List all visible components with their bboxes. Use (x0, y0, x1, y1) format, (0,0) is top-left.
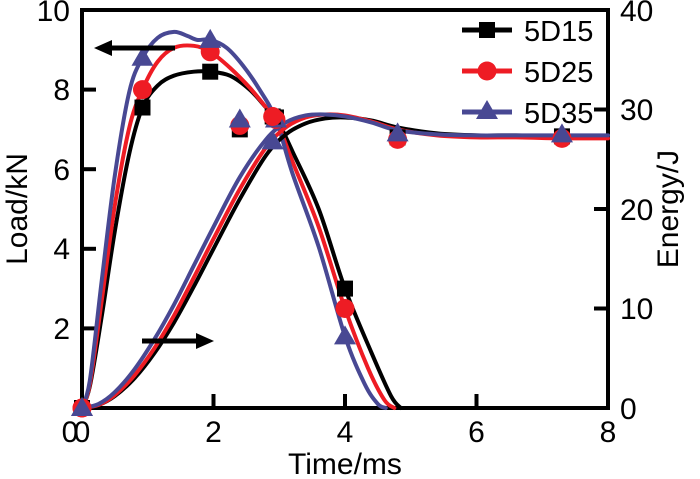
legend-item-5D25[interactable]: 5D25 (462, 57, 593, 89)
series-line-5D15-Energy (82, 117, 608, 408)
legend-item-5D15[interactable]: 5D15 (462, 16, 593, 48)
circle-marker-icon (478, 62, 497, 81)
x-tick-label: 4 (337, 416, 354, 449)
y-right-tick-label: 0 (620, 393, 637, 426)
series-marker-5D15-Load (337, 281, 353, 297)
x-tick-label: 2 (205, 416, 222, 449)
series-marker-5D35-Energy (229, 108, 251, 127)
x-axis-title: Time/ms (288, 448, 402, 479)
y-right-axis-title: Energy/J (652, 150, 685, 268)
legend: 5D15 5D25 5D35 (462, 16, 593, 130)
x-tick-label: 8 (600, 416, 617, 449)
series-line-5D35-Load (82, 32, 386, 408)
x-tick-label: 6 (468, 416, 485, 449)
y-left-tick-label: 6 (53, 154, 70, 187)
y-left-tick-label: 10 (37, 0, 70, 28)
series-marker-5D25-Load (336, 299, 355, 318)
series-line-5D25-Energy (82, 114, 608, 408)
y-right-ticks (594, 10, 608, 408)
legend-item-label: 5D25 (524, 57, 593, 89)
figure-container: 10 8 6 4 2 0 40 30 20 10 0 0 2 4 6 8 Tim… (0, 0, 700, 479)
y-left-tick-labels: 10 8 6 4 2 0 (37, 0, 79, 449)
series-marker-5D15-Load (134, 100, 150, 116)
y-right-tick-label: 20 (620, 194, 653, 227)
legend-item-label: 5D15 (524, 16, 593, 48)
y-right-tick-label: 10 (620, 293, 653, 326)
series-marker-5D25-Load (133, 80, 152, 99)
series-marker-5D15-Load (202, 64, 218, 80)
series-marker-5D25-Energy (263, 107, 282, 126)
right-arrow-annotation (142, 333, 214, 349)
legend-item-5D35[interactable]: 5D35 (462, 98, 593, 130)
y-left-tick-label: 4 (53, 233, 70, 266)
y-right-tick-label: 40 (620, 0, 653, 28)
series-line-5D35-Energy (82, 114, 608, 408)
y-left-axis-title: Load/kN (1, 153, 34, 265)
square-marker-icon (479, 22, 495, 38)
x-tick-labels: 0 2 4 6 8 (74, 416, 617, 449)
chart-canvas: 10 8 6 4 2 0 40 30 20 10 0 0 2 4 6 8 Tim… (0, 0, 700, 479)
x-ticks (82, 394, 608, 408)
y-right-tick-label: 30 (620, 94, 653, 127)
y-right-tick-labels: 40 30 20 10 0 (620, 0, 653, 426)
x-tick-label: 0 (74, 416, 91, 449)
y-left-tick-label: 8 (53, 74, 70, 107)
y-left-tick-label: 2 (53, 313, 70, 346)
legend-item-label: 5D35 (524, 98, 593, 130)
